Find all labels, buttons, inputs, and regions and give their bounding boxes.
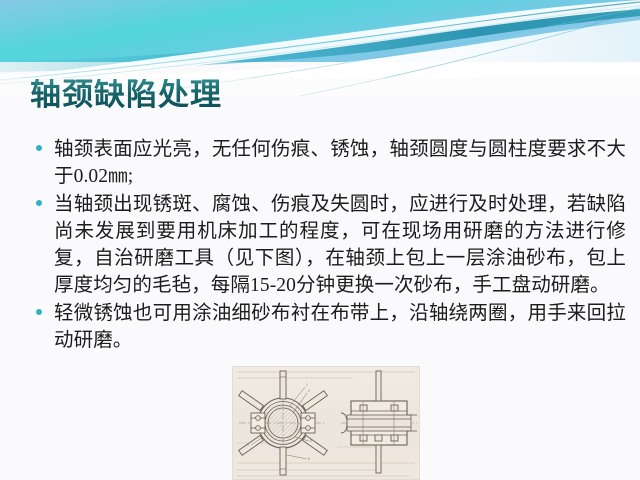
bullet-marker xyxy=(36,300,54,315)
list-item-text: 轻微锈蚀也可用涂油细砂布衬在布带上，沿轴绕两圈，用手来回拉动研磨。 xyxy=(54,300,626,354)
svg-text:2: 2 xyxy=(308,389,310,393)
svg-text:5: 5 xyxy=(310,439,312,443)
list-item: 当轴颈出现锈斑、腐蚀、伤痕及失圆时，应进行及时处理，若缺陷尚未发展到要用机床加工… xyxy=(36,191,626,299)
svg-text:1: 1 xyxy=(306,383,308,387)
bullet-dot-icon xyxy=(36,145,42,151)
svg-text:6: 6 xyxy=(308,457,310,461)
bullet-marker xyxy=(36,191,54,206)
bullet-dot-icon xyxy=(36,309,42,315)
list-item-text: 当轴颈出现锈斑、腐蚀、伤痕及失圆时，应进行及时处理，若缺陷尚未发展到要用机床加工… xyxy=(54,191,626,299)
list-item-text: 轴颈表面应光亮，无任何伤痕、锈蚀，轴颈圆度与圆柱度要求不大于0.02㎜; xyxy=(54,136,626,190)
bullet-marker xyxy=(36,136,54,151)
content-bullet-list: 轴颈表面应光亮，无任何伤痕、锈蚀，轴颈圆度与圆柱度要求不大于0.02㎜; 当轴颈… xyxy=(36,136,626,355)
page-title: 轴颈缺陷处理 xyxy=(30,79,222,110)
bullet-dot-icon xyxy=(36,200,42,206)
list-item: 轴颈表面应光亮，无任何伤痕、锈蚀，轴颈圆度与圆柱度要求不大于0.02㎜; xyxy=(36,136,626,190)
svg-text:4: 4 xyxy=(247,443,249,447)
grinding-tool-diagram-image: 1 2 5 6 4 xyxy=(232,366,420,480)
list-item: 轻微锈蚀也可用涂油细砂布衬在布带上，沿轴绕两圈，用手来回拉动研磨。 xyxy=(36,300,626,354)
slide-canvas: 轴颈缺陷处理 轴颈表面应光亮，无任何伤痕、锈蚀，轴颈圆度与圆柱度要求不大于0.0… xyxy=(0,0,640,480)
